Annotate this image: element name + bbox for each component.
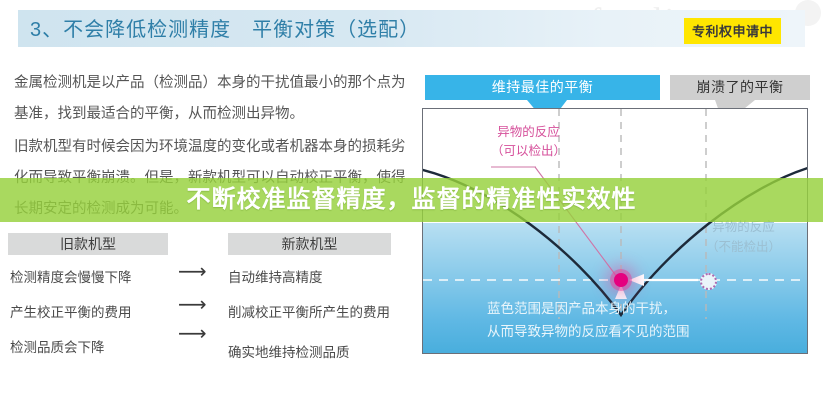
arrow-icon: ⟶ — [178, 263, 207, 281]
diagram-frame: 异物的反应 （可以检出） 异物的反应 （不能检出） 蓝色范围是因产品本身的干扰，… — [422, 108, 808, 354]
label-foreign-object-detectable: 异物的反应 （可以检出） — [491, 123, 566, 161]
page-title: 3、不会降低检测精度 平衡对策（选配） — [30, 13, 420, 42]
table-row: 削减校正平衡所产生的费用 — [228, 301, 390, 321]
left-content-column: 金属检测机是以产品（检测品）本身的干扰值最小的那个点为 基准，找到最适合的平衡，… — [0, 55, 420, 400]
arrow-icon: ⟶ — [178, 325, 207, 343]
table-row: 检测精度会慢慢下降 — [10, 266, 132, 286]
balance-diagram: 维持最佳的平衡 崩溃了的平衡 — [415, 55, 823, 400]
blue-region-note-line1: 蓝色范围是因产品本身的干扰， — [487, 297, 690, 320]
table-row: 检测品质会下降 — [10, 336, 105, 356]
paragraph-line-3: 旧款机型有时候会因为环境温度的变化或者机器本身的损耗劣 — [14, 132, 414, 163]
blue-region-note: 蓝色范围是因产品本身的干扰， 从而导致异物的反应看不见的范围 — [487, 297, 690, 343]
balance-point-marker — [614, 273, 628, 287]
callout-optimal-balance: 维持最佳的平衡 — [425, 75, 660, 100]
table-row: 自动维持高精度 — [228, 266, 323, 286]
label-undetectable-line2: （不能检出） — [706, 237, 781, 257]
screenshot-root: foodjx.com 3、不会降低检测精度 平衡对策（选配） 专利权申请中 金属… — [0, 0, 823, 400]
paragraph-line-2: 基准，找到最适合的平衡，从而检测出异物。 — [14, 99, 414, 130]
table-row: 产生校正平衡的费用 — [10, 301, 132, 321]
overlay-banner-text: 不断校准监督精度，监督的精准性实效性 — [0, 178, 823, 222]
blue-region-note-line2: 从而导致异物的反应看不见的范围 — [487, 320, 690, 343]
label-foreign-object-undetectable: 异物的反应 （不能检出） — [706, 217, 781, 257]
label-detectable-line1: 异物的反应 — [491, 123, 566, 142]
label-detectable-line2: （可以检出） — [491, 142, 566, 161]
undetectable-point-marker — [700, 273, 717, 290]
callout-collapsed-balance: 崩溃了的平衡 — [670, 75, 810, 100]
arrow-icon: ⟶ — [178, 296, 207, 314]
patent-pending-badge: 专利权申请中 — [684, 18, 781, 44]
paragraph-line-1: 金属检测机是以产品（检测品）本身的干扰值最小的那个点为 — [14, 68, 414, 99]
column-header-old-model: 旧款机型 — [8, 233, 168, 255]
column-header-new-model: 新款机型 — [228, 233, 391, 255]
table-row: 确实地维持检测品质 — [228, 341, 350, 361]
